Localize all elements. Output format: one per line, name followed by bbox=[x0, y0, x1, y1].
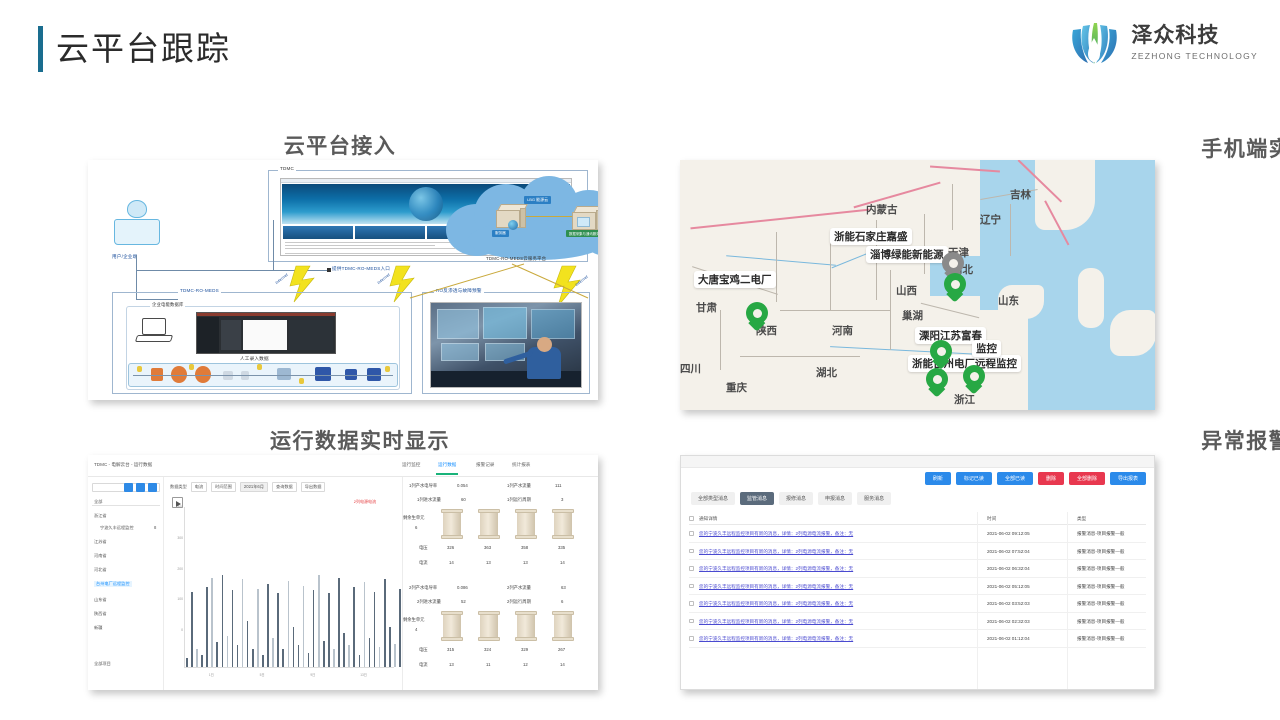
chart-x-tick: 9日 bbox=[310, 672, 315, 677]
m2-row1-v0: 13 bbox=[449, 662, 454, 667]
chart-bar bbox=[267, 584, 269, 667]
m1-row0-v2: 358 bbox=[521, 545, 528, 550]
alarm-type: 报警消息-项目报警—般 bbox=[1077, 584, 1124, 590]
alarm-button-删除[interactable]: 删除 bbox=[1038, 472, 1064, 485]
map-pin-zhejiang-b[interactable] bbox=[963, 365, 985, 394]
chart-bar bbox=[206, 587, 208, 667]
select-all-checkbox[interactable] bbox=[689, 516, 694, 521]
dashboard-app-title: TDMC - 电解云台 - 运行数据 bbox=[94, 462, 152, 468]
dashboard-tab-1[interactable]: 运行数据 bbox=[438, 462, 456, 468]
chart-bar bbox=[348, 645, 350, 667]
row-checkbox[interactable] bbox=[689, 566, 694, 571]
alarm-button-标记已读[interactable]: 标记已读 bbox=[956, 472, 992, 485]
plant-label-baoji[interactable]: 大唐宝鸡二电厂 bbox=[694, 271, 776, 288]
m1-spool-3 bbox=[552, 509, 574, 539]
chart-bar bbox=[216, 642, 218, 667]
m1-spool-0 bbox=[441, 509, 463, 539]
page-title-group: 云平台跟踪 bbox=[38, 26, 231, 72]
chart-bar bbox=[237, 645, 239, 667]
m1-spool-1 bbox=[478, 509, 500, 539]
alarm-diagnosis-image: 刷新标记已读全部已读删除全部删除导出报表 全部类型消息监管消息报修消息申报消息服… bbox=[680, 455, 1155, 690]
province-label-henan: 河南 bbox=[832, 323, 853, 338]
dashboard-tab-2[interactable]: 报警记录 bbox=[476, 462, 494, 468]
map-land-ne bbox=[1035, 160, 1095, 230]
map-land-korea bbox=[1078, 268, 1104, 328]
m2-row0-label: 电压 bbox=[419, 647, 428, 653]
chart-bar bbox=[288, 581, 290, 667]
row-checkbox[interactable] bbox=[689, 584, 694, 589]
chart-bar bbox=[272, 638, 274, 667]
alarm-detail-link[interactable]: 您的宁波久丰远程监控项目有新的消息，详情：2列电源电流报警，备注：无 bbox=[699, 584, 853, 590]
province-label-liaoning: 辽宁 bbox=[980, 212, 1001, 227]
alarm-button-导出报表[interactable]: 导出报表 bbox=[1110, 472, 1146, 485]
server-link-line bbox=[526, 216, 572, 217]
plant-label-monitor[interactable]: 监控 bbox=[972, 340, 1001, 357]
chart-bar bbox=[374, 592, 376, 667]
alarm-table-row[interactable]: 您的宁波久丰远程监控项目有新的消息，详情：2列电源电流报警，备注：无2021-0… bbox=[689, 543, 1146, 561]
dashboard-tab-0[interactable]: 运行监控 bbox=[402, 462, 420, 468]
tree-item-8[interactable]: 新疆 bbox=[94, 625, 102, 631]
tree-item-6[interactable]: 山东省 bbox=[94, 597, 107, 603]
m2-unit-value: 4 bbox=[415, 627, 417, 632]
tree-item-1-badge: 8 bbox=[154, 525, 156, 530]
alarm-tab-报修消息[interactable]: 报修消息 bbox=[779, 492, 813, 505]
m2-row1-v1: 11 bbox=[486, 662, 490, 667]
alarm-detail-link[interactable]: 您的宁波久丰远程监控项目有新的消息，详情：2列电源电流报警，备注：无 bbox=[699, 619, 853, 625]
alarm-tab-row: 全部类型消息监管消息报修消息申报消息服务消息 bbox=[691, 492, 891, 505]
alarm-type: 报警消息-项目报警—般 bbox=[1077, 549, 1124, 555]
m2-sum3-value: 6 bbox=[561, 599, 563, 604]
m2-spool-2 bbox=[515, 611, 537, 641]
chart-y-tick: 400 bbox=[170, 505, 183, 509]
filter-pill-current[interactable]: 电流 bbox=[191, 482, 207, 492]
alarm-tab-监管消息[interactable]: 监管消息 bbox=[740, 492, 774, 505]
caption-alarm-diag: 异常报警及诊断 bbox=[640, 425, 1280, 455]
m2-spool-3 bbox=[552, 611, 574, 641]
map-pin-zhejiang-a[interactable] bbox=[926, 368, 948, 397]
row-checkbox[interactable] bbox=[689, 619, 694, 624]
m2-row0-v0: 315 bbox=[447, 647, 454, 652]
province-label-shanxi: 山西 bbox=[896, 283, 917, 298]
m2-sum2-label: 2列进水流量 bbox=[417, 599, 441, 605]
chart-bar bbox=[282, 649, 284, 667]
alarm-topbar bbox=[681, 456, 1154, 468]
brand-name-cn: 泽众科技 bbox=[1131, 24, 1258, 48]
server-left-label: 服务器 bbox=[492, 230, 509, 237]
scada-screenshot bbox=[196, 312, 336, 354]
chart-bar bbox=[338, 578, 340, 667]
col-type: 类型 bbox=[1077, 516, 1086, 522]
cloud-access-image: 用户/企业端 TDMC 提供TDMC-RO-MEDS入口 bbox=[88, 160, 598, 400]
chart-bar bbox=[328, 593, 330, 667]
alarm-type: 报警消息-项目报警—般 bbox=[1077, 531, 1124, 537]
m2-sum1-label: 2列产水流量 bbox=[507, 585, 531, 591]
alarm-table-row[interactable]: 您的宁波久丰远程监控项目有新的消息，详情：2列电源电流报警，备注：无2021-0… bbox=[689, 613, 1146, 631]
chart-bar bbox=[252, 649, 254, 667]
server-right-icon bbox=[572, 206, 598, 230]
alarm-table-row[interactable]: 您的宁波久丰远程监控项目有新的消息，详情：2列电源电流报警，备注：无2021-0… bbox=[689, 525, 1146, 543]
m2-spool-0 bbox=[441, 611, 463, 641]
chart-bar bbox=[247, 621, 249, 667]
region-select[interactable]: 全部 bbox=[92, 497, 160, 506]
alarm-detail-link[interactable]: 您的宁波久丰远程监控项目有新的消息，详情：2列电源电流报警，备注：无 bbox=[699, 531, 853, 537]
mobile-realtime-map-image: 内蒙古 吉林 辽宁 河北 山西 山东 甘肃 陕西 河南 湖北 重庆 四川 天津 … bbox=[680, 160, 1155, 410]
tree-item-9[interactable]: 全部项目 bbox=[94, 661, 111, 667]
row-checkbox[interactable] bbox=[689, 601, 694, 606]
chart-bar bbox=[389, 627, 391, 667]
chart-bar bbox=[323, 641, 325, 667]
slide-root: 云平台跟踪 bbox=[0, 0, 1280, 720]
dashboard-tab-3[interactable]: 统计报表 bbox=[512, 462, 530, 468]
alarm-table-header: 通知详情 时间 类型 bbox=[689, 512, 1146, 525]
alarm-time: 2021-06-02 01:12:04 bbox=[987, 636, 1030, 641]
alarm-button-row: 刷新标记已读全部已读删除全部删除导出报表 bbox=[925, 472, 1146, 485]
tree-item-3[interactable]: 河南省 bbox=[94, 553, 107, 559]
alarm-button-刷新[interactable]: 刷新 bbox=[925, 472, 951, 485]
chart-bar bbox=[196, 649, 198, 667]
alarm-button-全部已读[interactable]: 全部已读 bbox=[997, 472, 1033, 485]
m2-spool-1 bbox=[478, 611, 500, 641]
person-label: 用户/企业端 bbox=[112, 254, 137, 260]
dashboard-metrics-panel: 1列产水电导率 0.054 1列产水流量 111 1列进水流量 60 1列运行周… bbox=[402, 477, 598, 690]
chart-bar bbox=[201, 655, 203, 667]
alarm-time: 2021-06-02 09:12:05 bbox=[987, 531, 1030, 536]
chart-y-axis bbox=[184, 507, 185, 668]
chart-x-tick: 13日 bbox=[360, 672, 367, 677]
dashboard-chart-area: 数据类型 电流 时间范围 2021年6月 查询数据 导出数据 2列电源电流 40… bbox=[164, 477, 402, 690]
chart-bar bbox=[232, 590, 234, 667]
chart-bar bbox=[277, 593, 279, 667]
map-pin-baoji[interactable] bbox=[746, 302, 768, 331]
alarm-table-row[interactable]: 您的宁波久丰远程监控项目有新的消息，详情：2列电源电流报警，备注：无2021-0… bbox=[689, 595, 1146, 613]
chart-bar bbox=[313, 590, 315, 667]
cloud-right-connector bbox=[412, 260, 592, 300]
m2-row0-v2: 329 bbox=[521, 647, 528, 652]
chart-bar bbox=[186, 658, 188, 667]
m1-row1-v1: 13 bbox=[486, 560, 491, 565]
m2-sum3-label: 2列运行周期 bbox=[507, 599, 531, 605]
chart-bar bbox=[262, 655, 264, 667]
chart-bar bbox=[384, 579, 386, 667]
m2-sum2-value: 52 bbox=[461, 599, 466, 604]
lotus-leaf-droplet-icon bbox=[1066, 14, 1122, 70]
alarm-type: 报警消息-项目报警—般 bbox=[1077, 619, 1124, 625]
row-checkbox[interactable] bbox=[689, 636, 694, 641]
tree-item-7[interactable]: 陕西省 bbox=[94, 611, 107, 617]
chart-bar bbox=[353, 587, 355, 667]
plant-label-zibo[interactable]: 淄博绿能新能源 bbox=[866, 246, 948, 263]
m1-sum1-value: 111 bbox=[555, 483, 562, 488]
province-label-sichuan: 四川 bbox=[680, 361, 701, 376]
m1-sum1-label: 1列产水流量 bbox=[507, 483, 531, 489]
tree-item-4[interactable]: 河北省 bbox=[94, 567, 107, 573]
chart-bar bbox=[191, 592, 193, 667]
chart-bar bbox=[298, 645, 300, 667]
alarm-time: 2021-06-02 06:32:04 bbox=[987, 566, 1030, 571]
chart-y-tick: 0 bbox=[170, 628, 183, 632]
reset-button[interactable] bbox=[136, 483, 145, 492]
tdmc-portal-label: TDMC bbox=[278, 166, 296, 171]
server-left-icon bbox=[496, 204, 526, 228]
chart-bar bbox=[303, 586, 305, 667]
filter-label-type: 数据类型 bbox=[170, 484, 187, 490]
tree-item-0[interactable]: 浙江省 bbox=[94, 513, 107, 519]
chart-bar bbox=[257, 589, 259, 667]
m1-unit-label: 剩余生单元 bbox=[403, 515, 424, 521]
brand-name-en: ZEZHONG TECHNOLOGY bbox=[1131, 51, 1258, 61]
expand-button[interactable] bbox=[148, 483, 157, 492]
chart-bar bbox=[242, 579, 244, 667]
map-pin-tianjin[interactable] bbox=[944, 273, 966, 302]
filter-pill-range[interactable]: 时间范围 bbox=[211, 482, 236, 492]
province-label-zhejiang: 浙江 bbox=[954, 392, 975, 407]
meds-box-label: TDMC-RO-MEDS bbox=[178, 288, 221, 293]
manual-input-label: 人工录入数据 bbox=[240, 356, 269, 362]
m1-sum0-value: 0.054 bbox=[457, 483, 468, 488]
m2-row1-v2: 12 bbox=[523, 662, 528, 667]
province-label-chongqing: 重庆 bbox=[726, 380, 747, 395]
filter-pill-month[interactable]: 2021年6月 bbox=[240, 482, 268, 492]
m1-sum2-value: 60 bbox=[461, 497, 466, 502]
m1-spool-2 bbox=[515, 509, 537, 539]
alarm-type: 报警消息-项目报警—般 bbox=[1077, 636, 1124, 642]
plant-label-shijiazhuang[interactable]: 浙能石家庄嘉盛 bbox=[830, 228, 912, 245]
chart-bar bbox=[293, 627, 295, 667]
province-label-jilin: 吉林 bbox=[1010, 187, 1031, 202]
computer-icon bbox=[136, 318, 174, 344]
alarm-tab-服务消息[interactable]: 服务消息 bbox=[857, 492, 891, 505]
server-right-label: 数据采集与通讯服务器 bbox=[566, 230, 598, 237]
tree-item-5[interactable]: 台州电厂远程监控 bbox=[94, 581, 132, 587]
chart-bar bbox=[211, 578, 213, 667]
search-button[interactable] bbox=[124, 483, 133, 492]
chart-legend-label: 2列电源电流 bbox=[354, 499, 376, 505]
chart-bar bbox=[399, 589, 401, 667]
m1-row1-v0: 14 bbox=[449, 560, 454, 565]
chart-y-tick: 200 bbox=[170, 567, 183, 571]
m1-row1-label: 电流 bbox=[419, 560, 428, 566]
row-checkbox[interactable] bbox=[689, 549, 694, 554]
m2-row0-v3: 267 bbox=[558, 647, 565, 652]
chart-bar bbox=[222, 575, 224, 667]
province-label-shandong: 山东 bbox=[998, 293, 1019, 308]
province-label-chaohu: 巢湖 bbox=[902, 308, 923, 323]
m1-row0-v3: 335 bbox=[558, 545, 565, 550]
m2-row0-v1: 324 bbox=[484, 647, 491, 652]
alarm-table-row[interactable]: 您的宁波久丰远程监控项目有新的消息，详情：2列电源电流报警，备注：无2021-0… bbox=[689, 578, 1146, 596]
tree-item-1[interactable]: 宁波久丰远程监控 bbox=[100, 525, 134, 531]
filter-pill-query[interactable]: 查询数据 bbox=[272, 482, 297, 492]
m2-row1-v3: 14 bbox=[560, 662, 565, 667]
chart-bar bbox=[227, 636, 229, 667]
m1-unit-value: 6 bbox=[415, 525, 417, 530]
col-detail: 通知详情 bbox=[699, 516, 717, 522]
m1-sum3-label: 1列运行周期 bbox=[507, 497, 531, 503]
brand-logo: 泽众科技 ZEZHONG TECHNOLOGY bbox=[1066, 14, 1258, 70]
caption-mobile-view: 手机端实时查看 bbox=[640, 133, 1280, 163]
run-data-dashboard-image: TDMC - 电解云台 - 运行数据 运行监控 运行数据 报警记录 统计报表 全… bbox=[88, 455, 598, 690]
chart-bar bbox=[359, 655, 361, 667]
province-label-hubei: 湖北 bbox=[816, 365, 837, 380]
m1-row0-v1: 363 bbox=[484, 545, 491, 550]
row-checkbox[interactable] bbox=[689, 531, 694, 536]
alarm-tab-申报消息[interactable]: 申报消息 bbox=[818, 492, 852, 505]
alarm-button-全部删除[interactable]: 全部删除 bbox=[1069, 472, 1105, 485]
energy-db-label: 企业电能数据库 bbox=[150, 302, 185, 308]
m1-row1-v2: 13 bbox=[523, 560, 528, 565]
slide-header: 云平台跟踪 bbox=[0, 0, 1280, 95]
m2-sum1-value: 63 bbox=[561, 585, 566, 590]
m2-sum0-label: 2列产水电导率 bbox=[409, 585, 437, 591]
alarm-detail-link[interactable]: 您的宁波久丰远程监控项目有新的消息，详情：2列电源电流报警，备注：无 bbox=[699, 549, 853, 555]
alarm-type: 报警消息-项目报警—般 bbox=[1077, 601, 1124, 607]
chart-bar bbox=[394, 644, 396, 667]
chart-x-axis bbox=[184, 667, 394, 668]
chart-filter-row: 数据类型 电流 时间范围 2021年6月 查询数据 导出数据 bbox=[170, 482, 398, 492]
alarm-detail-link[interactable]: 您的宁波久丰远程监控项目有新的消息，详情：2列电源电流报警，备注：无 bbox=[699, 601, 853, 607]
m2-unit-label: 剩余生单元 bbox=[403, 617, 424, 623]
title-accent-bar bbox=[38, 26, 43, 72]
chart-bar bbox=[343, 633, 345, 667]
chart-bar bbox=[369, 638, 371, 667]
m1-row1-v3: 14 bbox=[560, 560, 565, 565]
chart-y-tick: 100 bbox=[170, 597, 183, 601]
cloud-tag-badge: i-BG 能源云 bbox=[524, 196, 551, 204]
m1-sum0-label: 1列产水电导率 bbox=[409, 483, 437, 489]
alarm-table-row[interactable]: 您的宁波久丰远程监控项目有新的消息，详情：2列电源电流报警，备注：无2021-0… bbox=[689, 560, 1146, 578]
m2-row1-label: 电流 bbox=[419, 662, 428, 668]
chart-bar bbox=[379, 647, 381, 667]
alarm-detail-link[interactable]: 您的宁波久丰远程监控项目有新的消息，详情：2列电源电流报警，备注：无 bbox=[699, 636, 853, 642]
dashboard-sidebar: 全部 浙江省 宁波久丰远程监控 8 江苏省 河南省 河北省 台州电厂远程监控 山… bbox=[88, 477, 164, 690]
col-time: 时间 bbox=[987, 516, 996, 522]
alarm-table-row[interactable]: 您的宁波久丰远程监控项目有新的消息，详情：2列电源电流报警，备注：无2021-0… bbox=[689, 630, 1146, 648]
chart-bar bbox=[333, 649, 335, 667]
scada-schematic bbox=[128, 363, 398, 387]
province-label-gansu: 甘肃 bbox=[696, 300, 717, 315]
alarm-detail-link[interactable]: 您的宁波久丰远程监控项目有新的消息，详情：2列电源电流报警，备注：无 bbox=[699, 566, 853, 572]
m1-sum2-label: 1列进水流量 bbox=[417, 497, 441, 503]
alarm-time: 2021-06-02 03:52:03 bbox=[987, 601, 1030, 606]
chart-bar bbox=[318, 575, 320, 667]
alarm-tab-全部类型消息[interactable]: 全部类型消息 bbox=[691, 492, 735, 505]
chart-x-tick: 1日 bbox=[209, 672, 214, 677]
chart-y-tick: 300 bbox=[170, 536, 183, 540]
province-label-neimenggu: 内蒙古 bbox=[866, 202, 898, 217]
user-icon bbox=[114, 200, 160, 252]
map-pin-jiangsu[interactable] bbox=[930, 340, 952, 369]
brand-text: 泽众科技 ZEZHONG TECHNOLOGY bbox=[1131, 24, 1258, 61]
alarm-time: 2021-06-02 02:32:03 bbox=[987, 619, 1030, 624]
page-title: 云平台跟踪 bbox=[56, 26, 231, 72]
alarm-time: 2021-06-02 05:12:05 bbox=[987, 584, 1030, 589]
chart-bar bbox=[308, 653, 310, 667]
m2-sum0-value: 0.086 bbox=[457, 585, 468, 590]
map-land-japan bbox=[1110, 310, 1155, 356]
portal-entry-label: 提供TDMC-RO-MEDS入口 bbox=[332, 266, 390, 272]
chart-x-tick: 5日 bbox=[260, 672, 265, 677]
chart-plot: 2列电源电流 4003002001000 1日5日9日13日17日21日25日2… bbox=[170, 499, 396, 682]
m1-sum3-value: 3 bbox=[561, 497, 563, 502]
control-room-photo bbox=[430, 302, 582, 388]
tree-item-2[interactable]: 江苏省 bbox=[94, 539, 107, 545]
chart-bar bbox=[364, 582, 366, 667]
alarm-time: 2021-06-02 07:52:04 bbox=[987, 549, 1030, 554]
internet-label-1: internet bbox=[274, 272, 289, 285]
m1-row0-label: 电压 bbox=[419, 545, 428, 551]
m1-row0-v0: 326 bbox=[447, 545, 454, 550]
filter-pill-export[interactable]: 导出数据 bbox=[301, 482, 326, 492]
alarm-type: 报警消息-项目报警—般 bbox=[1077, 566, 1124, 572]
